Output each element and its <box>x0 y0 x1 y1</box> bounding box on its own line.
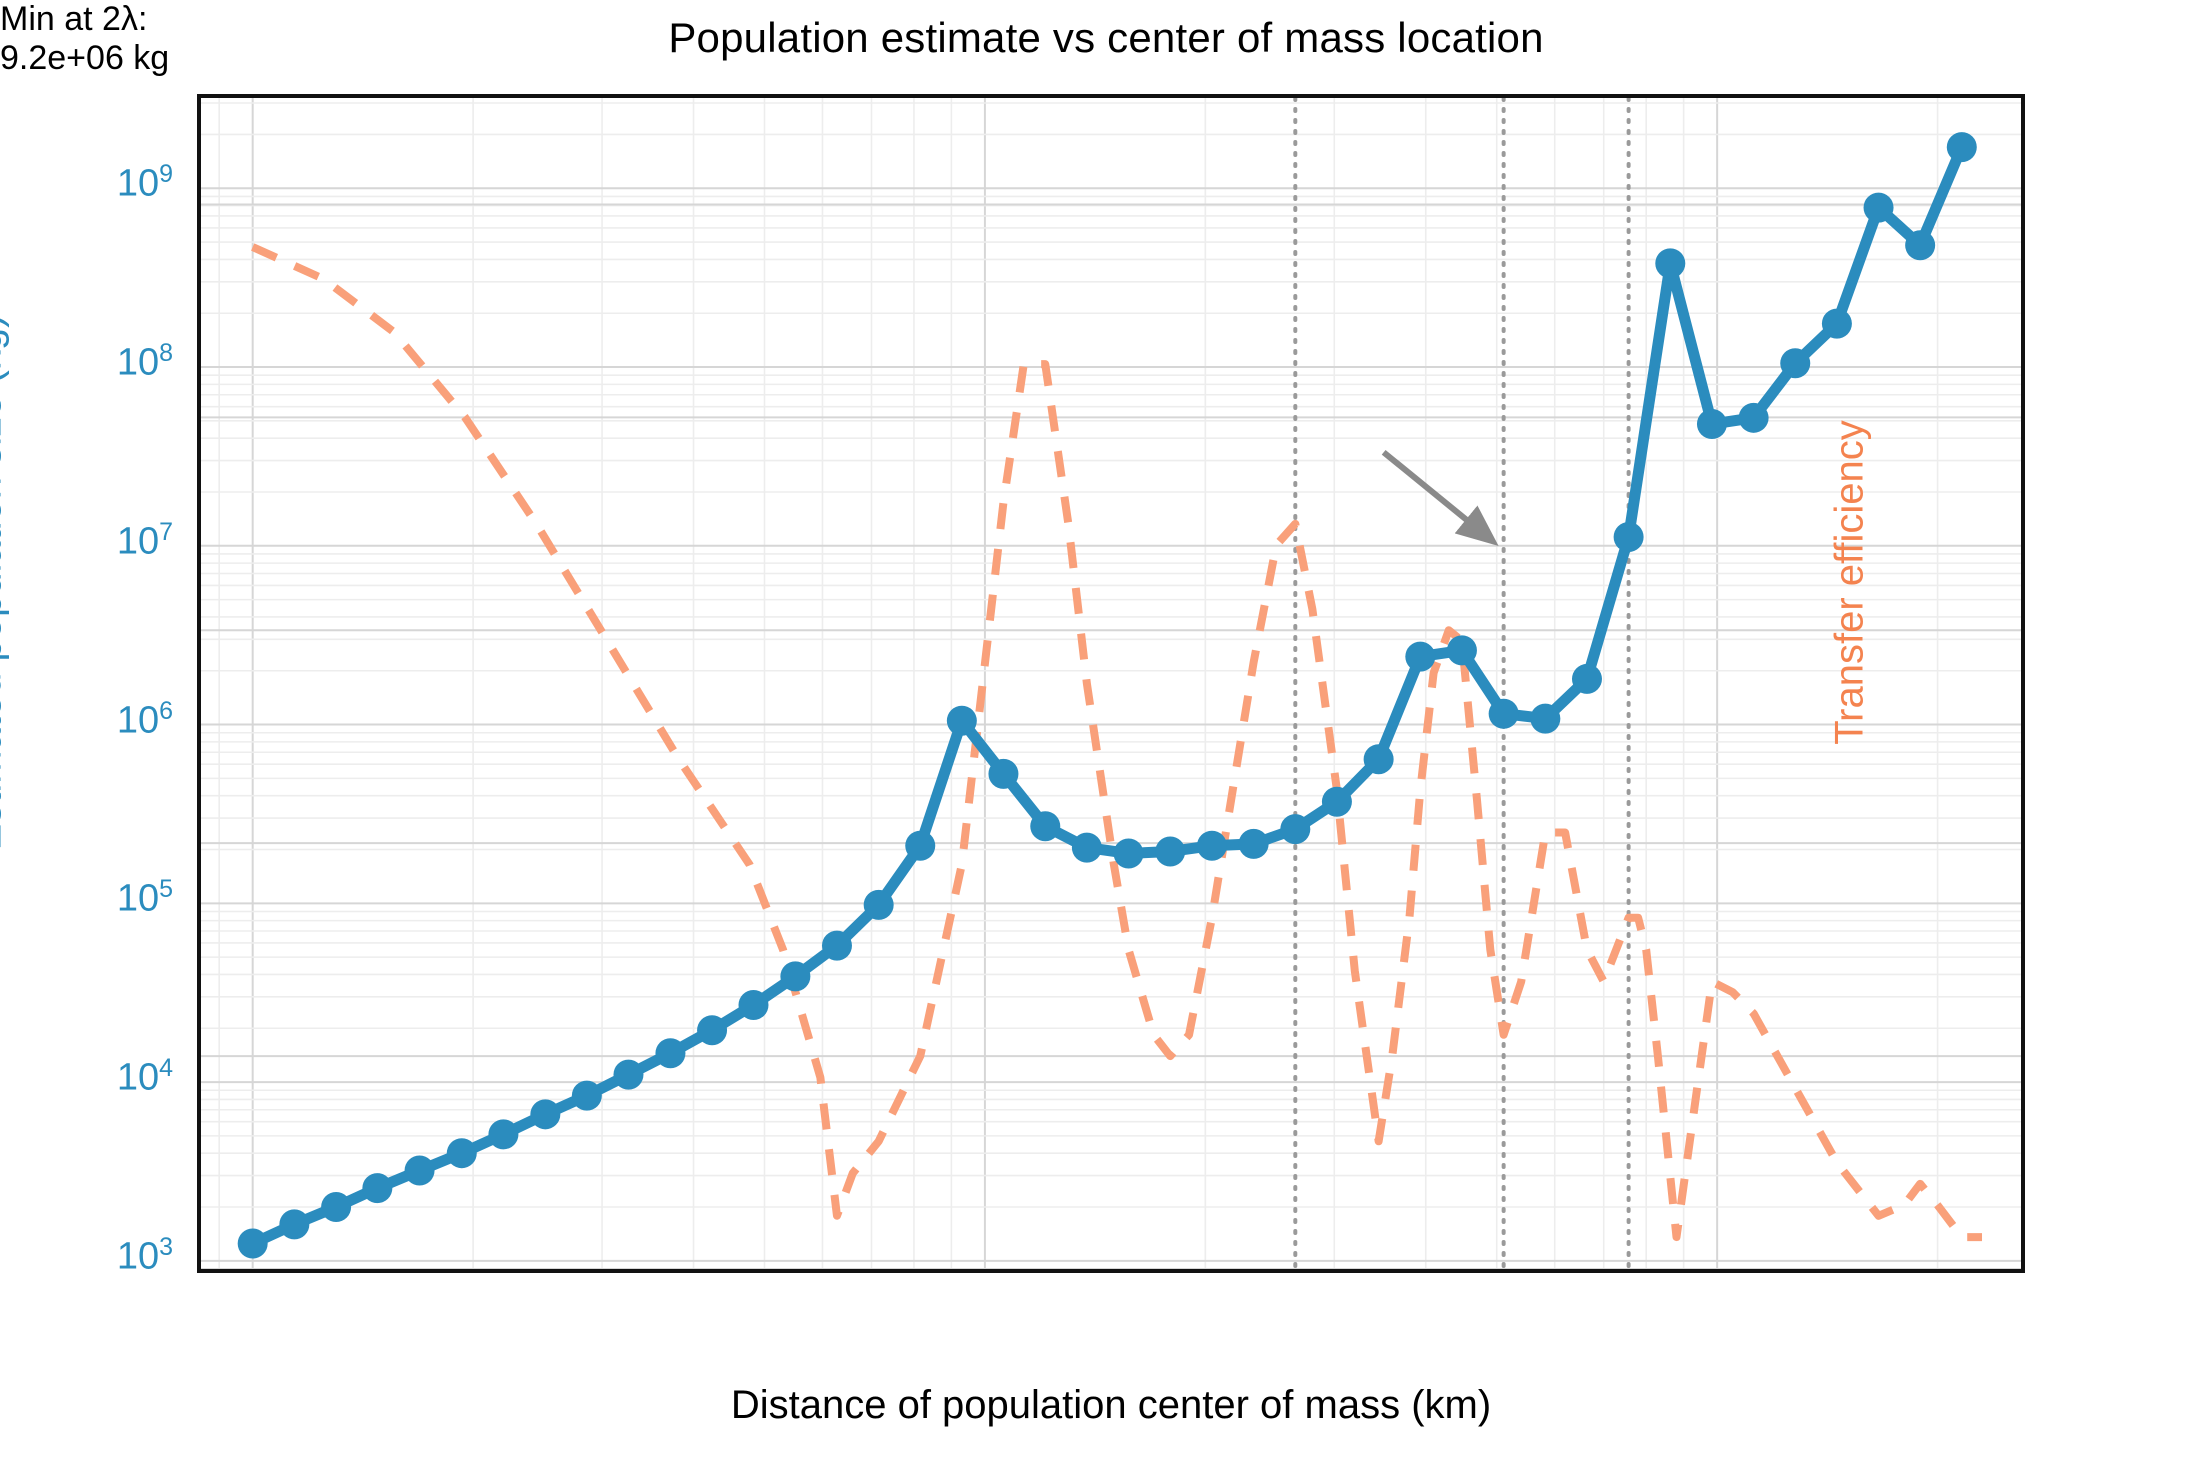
tick-mantissa: 10 <box>117 699 159 741</box>
left-ytick-6: 106 <box>117 699 173 740</box>
left-ytick-9: 109 <box>117 162 173 203</box>
left-ytick-4: 104 <box>117 1056 173 1097</box>
tick-mantissa: 10 <box>117 342 159 384</box>
left-ytick-3: 103 <box>117 1235 173 1276</box>
plot-area <box>197 94 2025 1273</box>
tick-exponent: 6 <box>159 697 173 725</box>
minor-gridlines <box>201 98 2021 1269</box>
plot-svg <box>201 98 2021 1269</box>
annotation-line-1: Min at 2λ: <box>0 0 169 39</box>
chart-figure: Population estimate vs center of mass lo… <box>0 0 2212 1460</box>
left-axis-label: Estimated population size (kg) <box>0 83 11 1083</box>
plot-inner <box>201 98 2021 1269</box>
left-ytick-7: 107 <box>117 520 173 561</box>
population-line <box>253 147 1962 1243</box>
tick-exponent: 8 <box>159 339 173 367</box>
annotation-line-2: 9.2e+06 kg <box>0 39 169 78</box>
tick-mantissa: 10 <box>117 163 159 205</box>
left-ytick-5: 105 <box>117 877 173 918</box>
tick-mantissa: 10 <box>117 520 159 562</box>
right-axis-label: Transfer efficiency <box>1828 83 1873 1083</box>
tick-exponent: 9 <box>159 160 173 188</box>
annotation-min-at-2lambda: Min at 2λ: 9.2e+06 kg <box>0 0 169 78</box>
tick-exponent: 7 <box>159 518 173 546</box>
tick-mantissa: 10 <box>117 1057 159 1099</box>
tick-exponent: 3 <box>159 1233 173 1261</box>
tick-exponent: 4 <box>159 1054 173 1082</box>
tick-exponent: 5 <box>159 875 173 903</box>
annotation-arrow <box>1384 452 1492 540</box>
x-axis-label: Distance of population center of mass (k… <box>197 1383 2025 1428</box>
chart-title: Population estimate vs center of mass lo… <box>0 14 2212 62</box>
tick-mantissa: 10 <box>117 878 159 920</box>
tick-mantissa: 10 <box>117 1235 159 1277</box>
left-ytick-8: 108 <box>117 341 173 382</box>
